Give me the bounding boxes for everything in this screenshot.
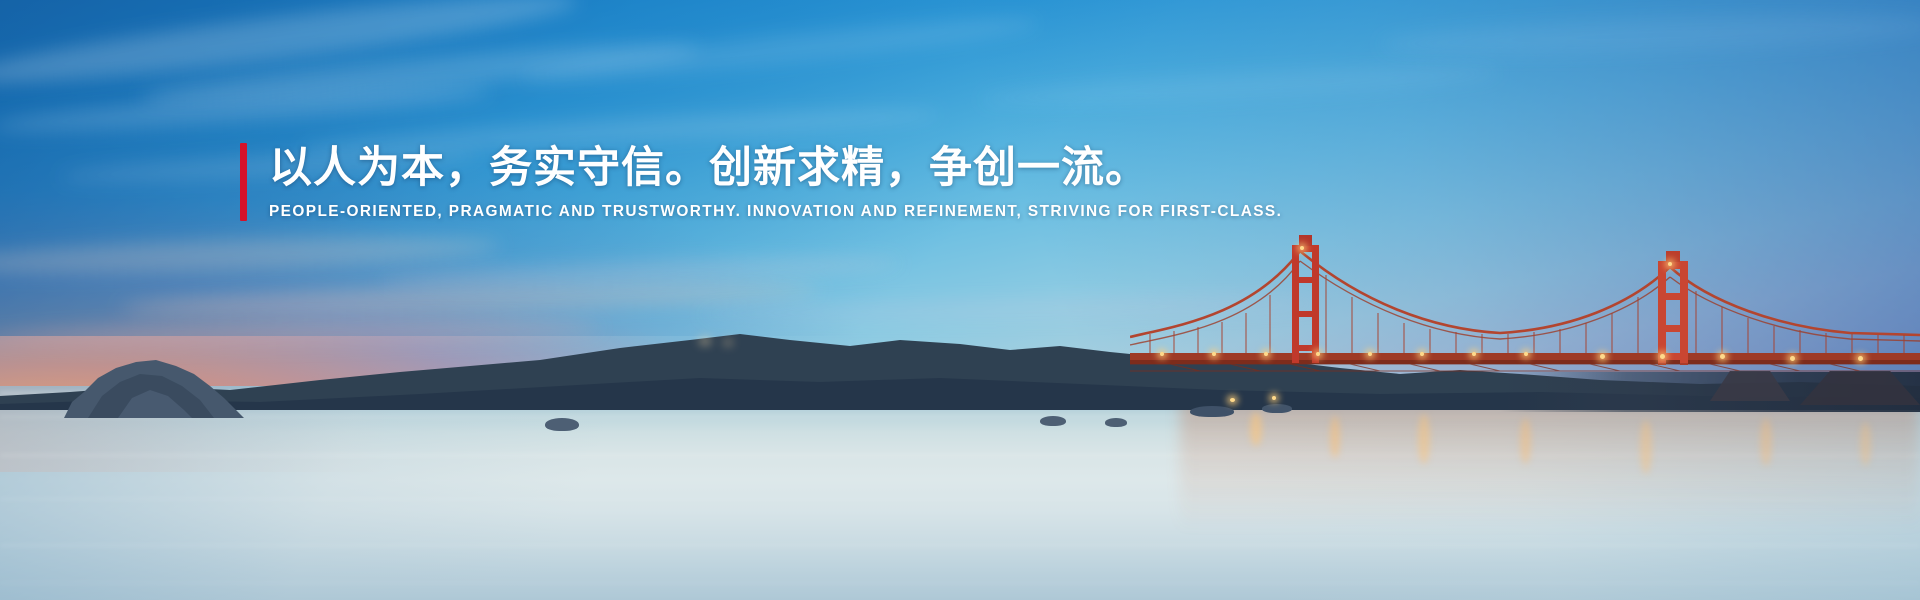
bridge-lamp: [1720, 354, 1725, 359]
bridge-lamp: [1524, 352, 1528, 356]
bridge-water-reflection: [1180, 398, 1920, 568]
bridge-lamp: [1368, 352, 1372, 356]
bridge-lamp: [1472, 352, 1476, 356]
bridge-lamp: [1858, 356, 1863, 361]
slogan-text-block: 以人为本，务实守信。创新求精，争创一流。 PEOPLE-ORIENTED, PR…: [240, 143, 1282, 221]
bridge-lamp: [1420, 352, 1424, 356]
light-reflection: [1760, 418, 1772, 466]
small-rock: [1040, 416, 1066, 426]
light-reflection: [1640, 420, 1652, 474]
golden-gate-bridge: [1130, 205, 1920, 420]
light-reflection: [1520, 418, 1531, 464]
shore-lamp: [1272, 396, 1276, 400]
light-reflection: [1860, 422, 1871, 466]
light-reflection: [1418, 414, 1430, 464]
water-streak: [0, 582, 1920, 584]
slogan-subheadline-english: PEOPLE-ORIENTED, PRAGMATIC AND TRUSTWORT…: [269, 203, 1282, 221]
bridge-tower-lamp: [1300, 246, 1304, 250]
small-rock: [545, 418, 579, 431]
slogan-lines: 以人为本，务实守信。创新求精，争创一流。 PEOPLE-ORIENTED, PR…: [269, 143, 1282, 221]
foreground-sea-rock: [58, 352, 248, 422]
ridge-light-glow: [700, 338, 710, 344]
light-reflection: [1330, 416, 1340, 458]
bridge-lamp: [1212, 352, 1216, 356]
red-accent-bar: [240, 143, 247, 221]
bridge-lamp: [1790, 356, 1795, 361]
bridge-lamp: [1316, 352, 1320, 356]
bridge-lamp: [1660, 354, 1665, 359]
bridge-tower-lamp: [1668, 262, 1672, 266]
bridge-lamp: [1600, 354, 1605, 359]
bridge-lamp: [1264, 352, 1268, 356]
corporate-hero-banner: 以人为本，务实守信。创新求精，争创一流。 PEOPLE-ORIENTED, PR…: [0, 0, 1920, 600]
ridge-light-glow: [724, 340, 732, 345]
shore-lamp: [1230, 398, 1235, 402]
bridge-lamp: [1160, 352, 1164, 356]
slogan-headline-chinese: 以人为本，务实守信。创新求精，争创一流。: [269, 145, 1282, 192]
small-rock: [1105, 418, 1127, 427]
